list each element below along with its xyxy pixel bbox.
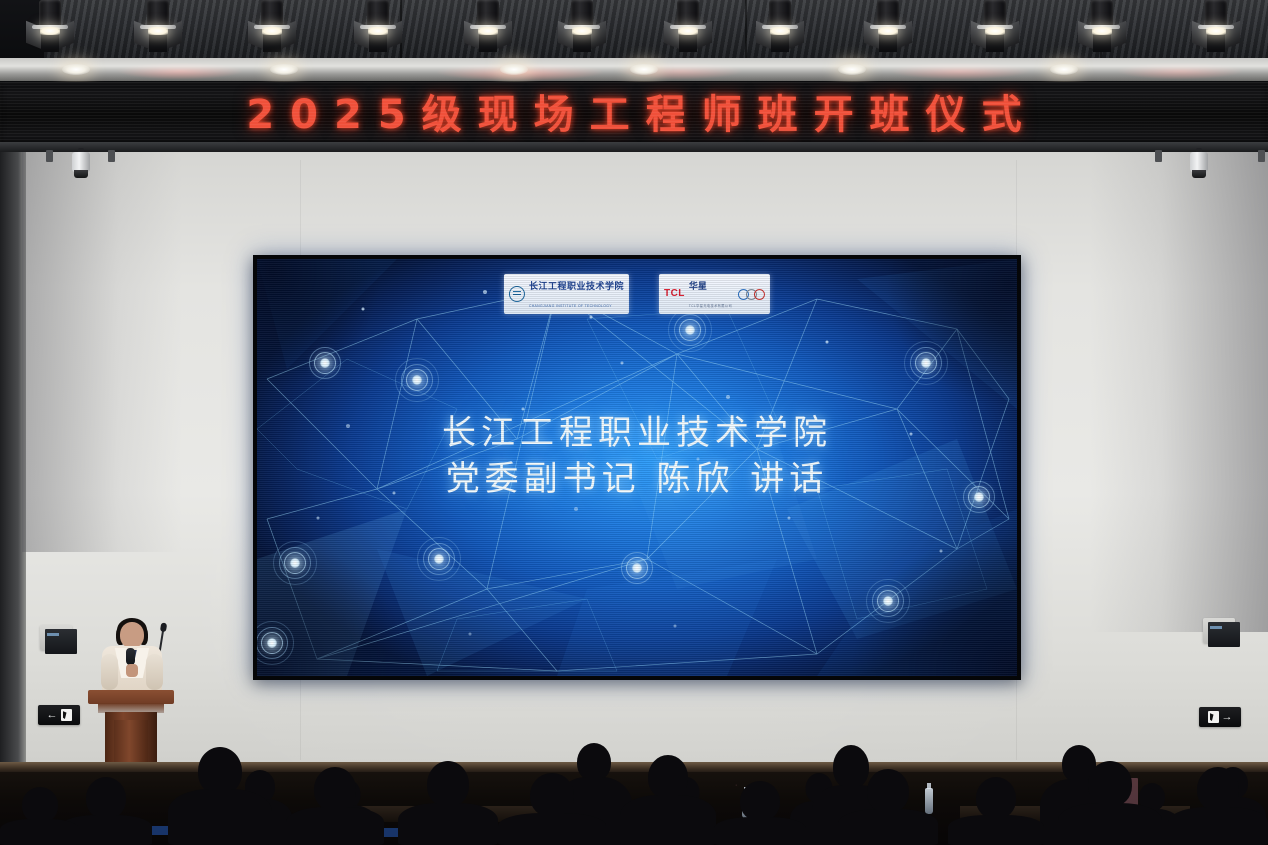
led-display: 长江工程职业技术学院 CHANGJIANG INSTITUTE OF TECHN… (257, 259, 1017, 676)
tcl-cn-text: 华星 (689, 281, 707, 291)
downlight (838, 64, 866, 75)
ceiling-spotlight (868, 0, 908, 56)
downlight (1050, 64, 1078, 75)
college-logo-cn: 长江工程职业技术学院 (529, 282, 624, 292)
tcl-csot-logo: TCL 华星 TCL华星光电技术有限公司 (659, 274, 770, 314)
downlight (62, 64, 90, 75)
led-banner-text: 2025级现场工程师班开班仪式 (0, 95, 1268, 135)
ceiling-spotlight (138, 0, 178, 56)
wall-shadow (22, 152, 182, 552)
ceiling-spotlight (252, 0, 292, 56)
speaker-hand (126, 664, 138, 677)
audience-member (714, 791, 806, 845)
wall-bracket (108, 150, 115, 162)
ceiling-spotlight (1196, 0, 1236, 56)
wall-bracket (1155, 150, 1162, 162)
network-node (434, 554, 444, 564)
wall-spotlight-right (1186, 148, 1212, 182)
college-emblem-icon (509, 286, 525, 302)
running-man-icon (1208, 711, 1219, 723)
tcl-brand-text: TCL (664, 289, 685, 299)
rings-icon (738, 289, 765, 300)
ceiling-spotlight (1082, 0, 1122, 56)
downlight (630, 64, 658, 75)
network-node (921, 358, 931, 368)
ceiling-spotlight (760, 0, 800, 56)
ceiling-spotlight (468, 0, 508, 56)
downlight (270, 64, 298, 75)
ceiling-spotlight (30, 0, 70, 56)
audience-member (286, 779, 384, 845)
college-logo-en: CHANGJIANG INSTITUTE OF TECHNOLOGY (529, 304, 612, 308)
led-banner: 2025级现场工程师班开班仪式 (0, 82, 1268, 148)
ceiling-spotlight (975, 0, 1015, 56)
screen-title-block: 长江工程职业技术学院 党委副书记 陈欣 讲话 (257, 411, 1017, 502)
college-logo: 长江工程职业技术学院 CHANGJIANG INSTITUTE OF TECHN… (504, 274, 629, 314)
audience-member (838, 781, 938, 845)
exit-sign-right: → (1199, 707, 1241, 727)
wall-control-panel-left[interactable] (40, 625, 72, 650)
audience-member (498, 785, 606, 845)
wall-spotlight-left (68, 148, 94, 182)
podium-speaker (96, 620, 168, 698)
podium-front-panel (114, 720, 148, 764)
ceiling-spotlight (668, 0, 708, 56)
network-node (267, 638, 277, 648)
audience-member (1058, 773, 1162, 845)
speaker-arm (101, 654, 118, 690)
arrow-right-icon: → (1222, 712, 1233, 723)
screen-logo-row: 长江工程职业技术学院 CHANGJIANG INSTITUTE OF TECHN… (504, 274, 770, 314)
network-node (412, 375, 422, 385)
handheld-microphone (126, 648, 135, 665)
exit-sign-left: ← (38, 705, 80, 725)
audience-member (1168, 779, 1268, 845)
audience-member (620, 765, 716, 845)
audience-member (948, 787, 1044, 845)
wall-bracket (46, 150, 53, 162)
network-node (632, 563, 642, 573)
speaker-head (120, 622, 144, 648)
screen-title-line2: 党委副书记 陈欣 讲话 (257, 457, 1017, 503)
arrow-left-icon: ← (47, 710, 58, 721)
downlight (500, 64, 528, 75)
network-node (685, 325, 695, 335)
wooden-podium (88, 690, 174, 772)
network-node (320, 358, 330, 368)
ceiling-spotlight (358, 0, 398, 56)
audience-member (398, 773, 498, 845)
ceiling-seam (745, 0, 747, 60)
wall-control-panel-right[interactable] (1203, 618, 1235, 643)
tcl-sub-text: TCL华星光电技术有限公司 (689, 304, 732, 308)
audience-member (168, 759, 272, 845)
network-node (290, 558, 300, 568)
podium-top (88, 690, 174, 704)
ceiling-spotlight (562, 0, 602, 56)
running-man-icon (61, 709, 72, 721)
wall-notice: · (735, 782, 737, 789)
speaker-arm (146, 654, 163, 690)
wall-shadow (1090, 152, 1268, 632)
auditorium-photo: 2025级现场工程师班开班仪式 ← → (0, 0, 1268, 845)
audience-member (0, 797, 80, 845)
screen-title-line1: 长江工程职业技术学院 (257, 411, 1017, 457)
wall-bracket (1258, 150, 1265, 162)
network-node (883, 596, 893, 606)
banner-lower-lip (0, 142, 1268, 152)
panel-screen (1208, 622, 1240, 647)
panel-screen (45, 629, 77, 654)
led-display-frame: 长江工程职业技术学院 CHANGJIANG INSTITUTE OF TECHN… (253, 255, 1021, 680)
